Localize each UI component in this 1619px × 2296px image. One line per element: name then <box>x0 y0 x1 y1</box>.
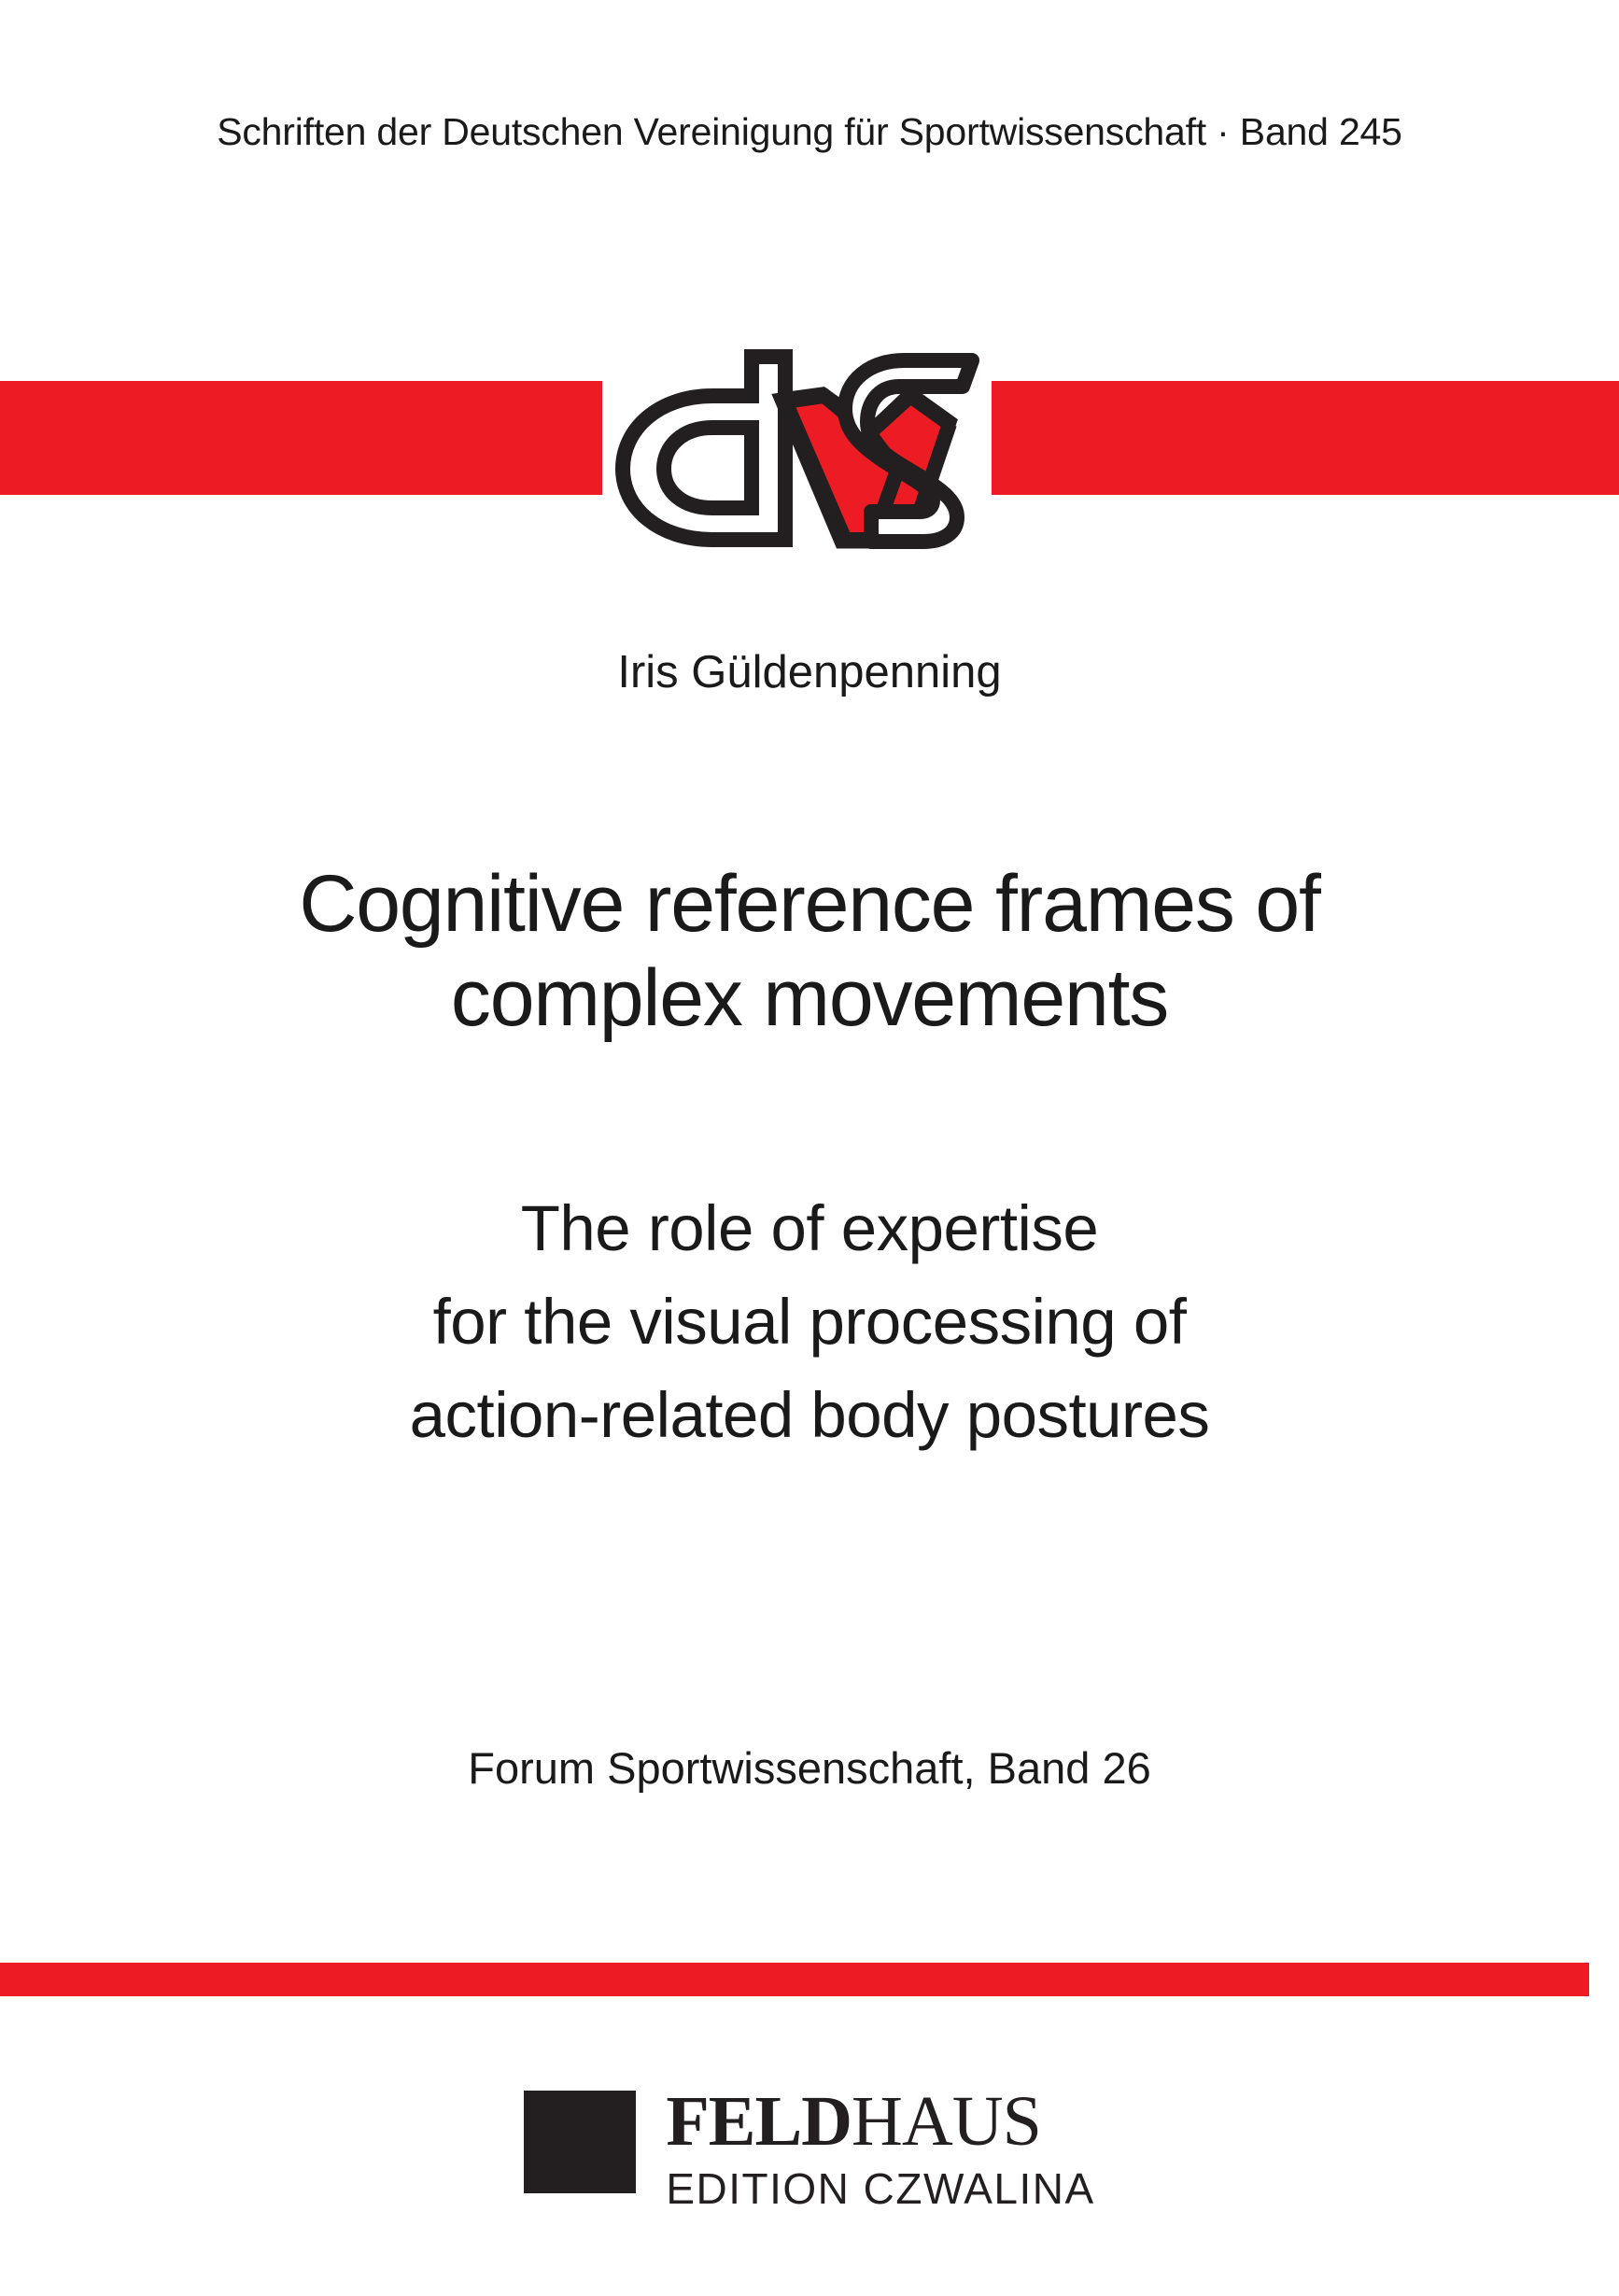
publisher-name-light: HAUS <box>852 2082 1041 2161</box>
book-cover: Schriften der Deutschen Vereinigung für … <box>0 0 1619 2296</box>
red-band-bottom <box>0 1963 1589 1996</box>
title-line-1: Cognitive reference frames of <box>0 857 1619 951</box>
subtitle-line-3: action-related body postures <box>0 1369 1619 1462</box>
publisher-imprint: EDITION CZWALINA <box>666 2163 1094 2214</box>
series-header: Schriften der Deutschen Vereinigung für … <box>0 110 1619 154</box>
publisher-name-bold: FELD <box>666 2082 852 2161</box>
publisher-name: FELDHAUS <box>666 2088 1094 2156</box>
red-band-left <box>0 381 602 495</box>
red-band-right <box>992 381 1619 495</box>
publisher-square-mark <box>524 2091 636 2193</box>
book-title: Cognitive reference frames of complex mo… <box>0 857 1619 1047</box>
subtitle-line-1: The role of expertise <box>0 1182 1619 1275</box>
book-subtitle: The role of expertise for the visual pro… <box>0 1182 1619 1462</box>
publisher-logo: FELDHAUS EDITION CZWALINA <box>0 2088 1619 2214</box>
forum-series-line: Forum Sportwissenschaft, Band 26 <box>0 1742 1619 1794</box>
red-band-zone <box>0 381 1619 495</box>
subtitle-line-2: for the visual processing of <box>0 1275 1619 1369</box>
title-line-2: complex movements <box>0 951 1619 1046</box>
dvs-logo-letter-d <box>623 357 785 540</box>
dvs-logo <box>602 325 992 554</box>
author-name: Iris Güldenpenning <box>0 646 1619 698</box>
